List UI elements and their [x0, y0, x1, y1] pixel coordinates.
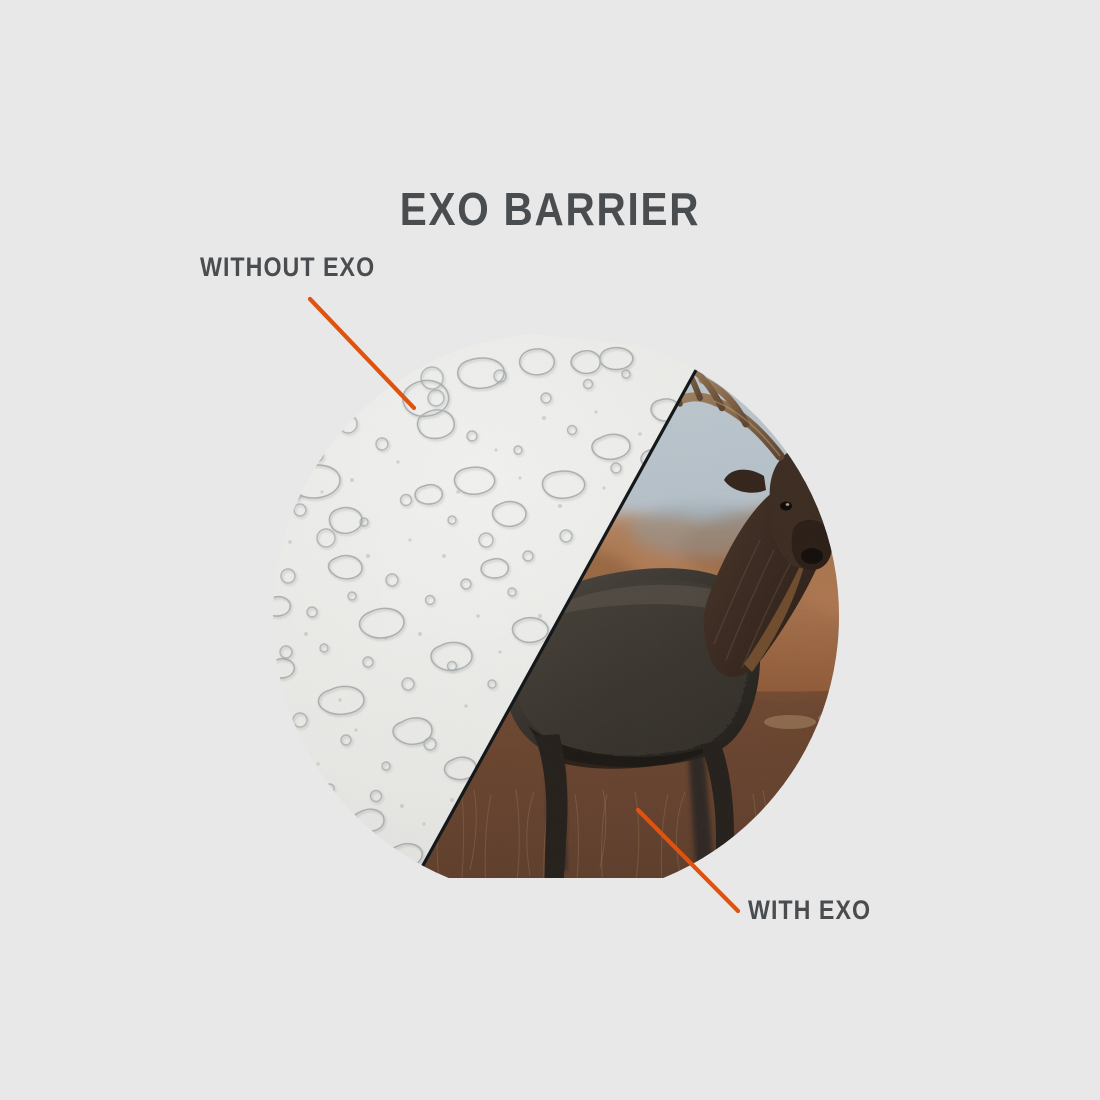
exo-barrier-infographic: EXO BARRIER WITHOUT EXO WITH EXO	[0, 0, 1100, 1100]
elk-ear-right	[838, 456, 880, 481]
comparison-figure	[0, 0, 1100, 1100]
leader-line-without-exo	[310, 299, 414, 408]
medallion	[200, 300, 972, 920]
